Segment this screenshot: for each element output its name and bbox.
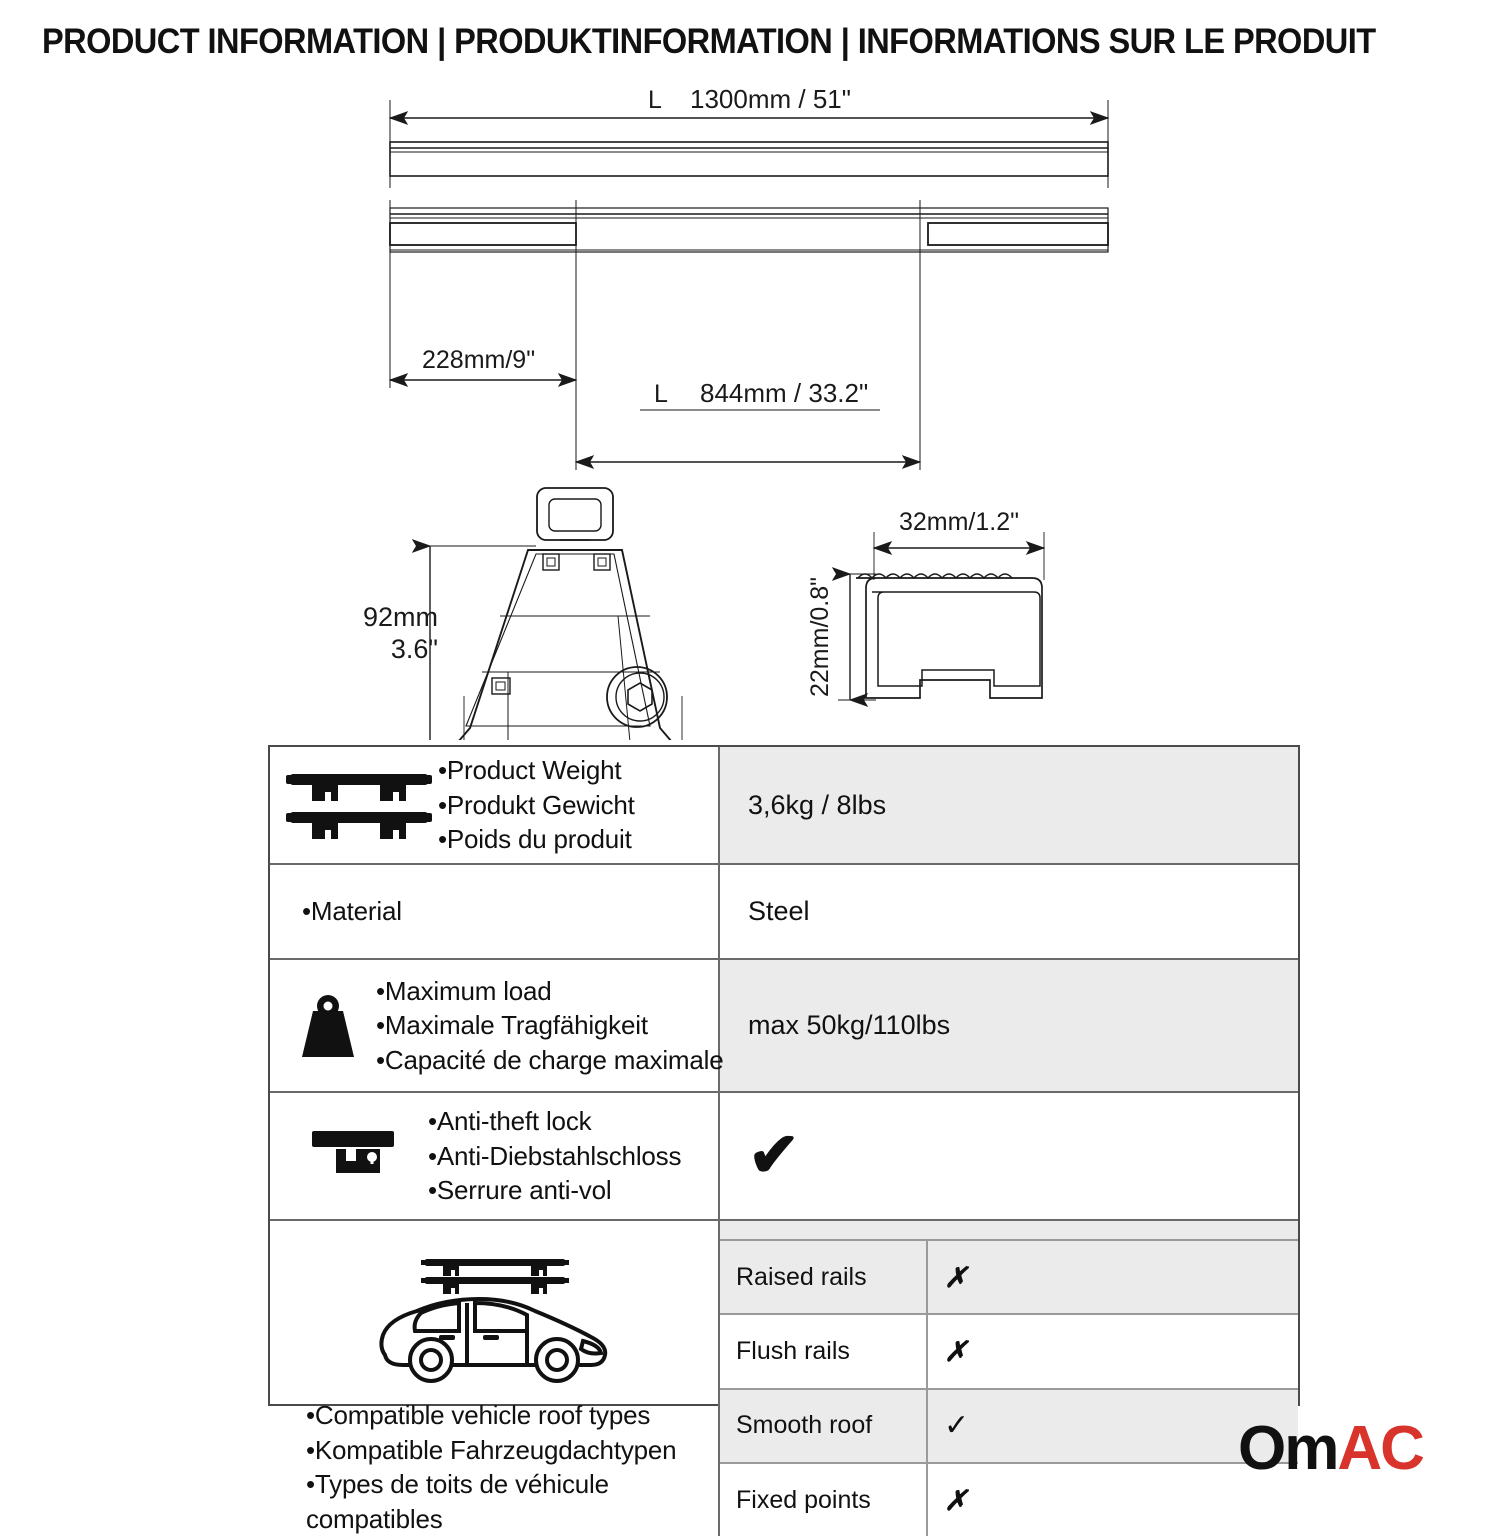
- logo-text-red: AC: [1337, 1418, 1423, 1480]
- profile-height-label: 22mm/0.8": [806, 577, 834, 697]
- profile-width-label: 32mm/1.2": [899, 508, 1019, 536]
- spec-value-max-load: max 50kg/110lbs: [720, 960, 1298, 1091]
- spec-label: •Poids du produit: [438, 822, 635, 857]
- omac-logo: Om AC: [1238, 1418, 1423, 1480]
- roof-compat-label-cell: •Compatible vehicle roof types •Kompatib…: [270, 1221, 720, 1536]
- spec-labels: •Product Weight •Produkt Gewicht •Poids …: [438, 753, 635, 857]
- spec-labels: •Material: [280, 894, 402, 929]
- roof-type-list: Raised rails ✗ Flush rails ✗ Smooth roof…: [720, 1221, 1298, 1536]
- roof-type-mark: ✗: [928, 1315, 1298, 1387]
- spec-label: •Types de toits de véhicule: [306, 1467, 676, 1502]
- table-row-roof-compatibility: •Compatible vehicle roof types •Kompatib…: [270, 1221, 1298, 1536]
- spec-value-lock: ✔: [720, 1093, 1298, 1219]
- table-row: •Material Steel: [270, 865, 1298, 960]
- foot-height-label-line2: 3.6": [391, 634, 438, 664]
- roof-list-spacer: [720, 1221, 1298, 1241]
- weight-icon: [280, 989, 376, 1063]
- spec-label-cell: •Product Weight •Produkt Gewicht •Poids …: [270, 747, 720, 863]
- spec-value-material: Steel: [720, 865, 1298, 958]
- table-row: •Anti-theft lock •Anti-Diebstahlschloss …: [270, 1093, 1298, 1221]
- foot-height-label-line1: 92mm: [363, 602, 438, 632]
- spec-label: •Compatible vehicle roof types: [306, 1398, 676, 1433]
- page-title: PRODUCT INFORMATION | PRODUKTINFORMATION…: [42, 22, 1363, 62]
- roof-type-row: Smooth roof ✓: [720, 1390, 1298, 1464]
- spec-label: •Capacité de charge maximale: [376, 1043, 723, 1078]
- spec-label: •Serrure anti-vol: [428, 1173, 681, 1208]
- spec-value-weight: 3,6kg / 8lbs: [720, 747, 1298, 863]
- foot-offset-label: 228mm/9": [422, 346, 535, 374]
- spec-labels: •Compatible vehicle roof types •Kompatib…: [270, 1398, 676, 1536]
- cross-icon: ✗: [944, 1335, 967, 1368]
- span-label: 844mm / 33.2": [700, 378, 868, 408]
- spec-label: •Product Weight: [438, 753, 635, 788]
- check-icon: ✓: [944, 1408, 969, 1443]
- cross-icon: ✗: [944, 1261, 967, 1294]
- roof-type-name: Smooth roof: [720, 1390, 928, 1462]
- spec-label: •Material: [302, 894, 402, 929]
- roof-type-name: Flush rails: [720, 1315, 928, 1387]
- specification-table: •Product Weight •Produkt Gewicht •Poids …: [268, 745, 1300, 1406]
- logo-text-black: Om: [1238, 1418, 1337, 1480]
- table-row: •Maximum load •Maximale Tragfähigkeit •C…: [270, 960, 1298, 1093]
- roof-type-name: Raised rails: [720, 1241, 928, 1313]
- spec-label: •Maximum load: [376, 974, 723, 1009]
- spec-label: •Produkt Gewicht: [438, 788, 635, 823]
- bar-length-label: 1300mm / 51": [690, 84, 851, 114]
- spec-label: compatibles: [306, 1502, 676, 1536]
- spec-label: •Maximale Tragfähigkeit: [376, 1008, 723, 1043]
- bar-length-prefix: L: [648, 86, 662, 114]
- check-icon: ✔: [748, 1125, 800, 1187]
- spec-label: •Anti-theft lock: [428, 1104, 681, 1139]
- spec-label-cell: •Maximum load •Maximale Tragfähigkeit •C…: [270, 960, 720, 1091]
- spec-label: •Kompatible Fahrzeugdachtypen: [306, 1433, 676, 1468]
- roof-type-row: Raised rails ✗: [720, 1241, 1298, 1315]
- spec-label: •Anti-Diebstahlschloss: [428, 1139, 681, 1174]
- spec-label-cell: •Anti-theft lock •Anti-Diebstahlschloss …: [270, 1093, 720, 1219]
- spec-labels: •Anti-theft lock •Anti-Diebstahlschloss …: [428, 1104, 681, 1208]
- roof-type-mark: ✗: [928, 1241, 1298, 1313]
- lock-icon: [280, 1123, 428, 1189]
- cross-icon: ✗: [944, 1484, 967, 1517]
- spec-labels: •Maximum load •Maximale Tragfähigkeit •C…: [376, 974, 723, 1078]
- car-with-crossbars-icon: [359, 1237, 629, 1392]
- table-row: •Product Weight •Produkt Gewicht •Poids …: [270, 747, 1298, 865]
- span-prefix: L: [654, 380, 668, 408]
- spec-label-cell: •Material: [270, 865, 720, 958]
- roof-type-row: Flush rails ✗: [720, 1315, 1298, 1389]
- technical-drawing: L 1300mm / 51" 228mm/9" L 844mm / 33.2": [0, 80, 1500, 740]
- crossbars-icon: [280, 768, 438, 842]
